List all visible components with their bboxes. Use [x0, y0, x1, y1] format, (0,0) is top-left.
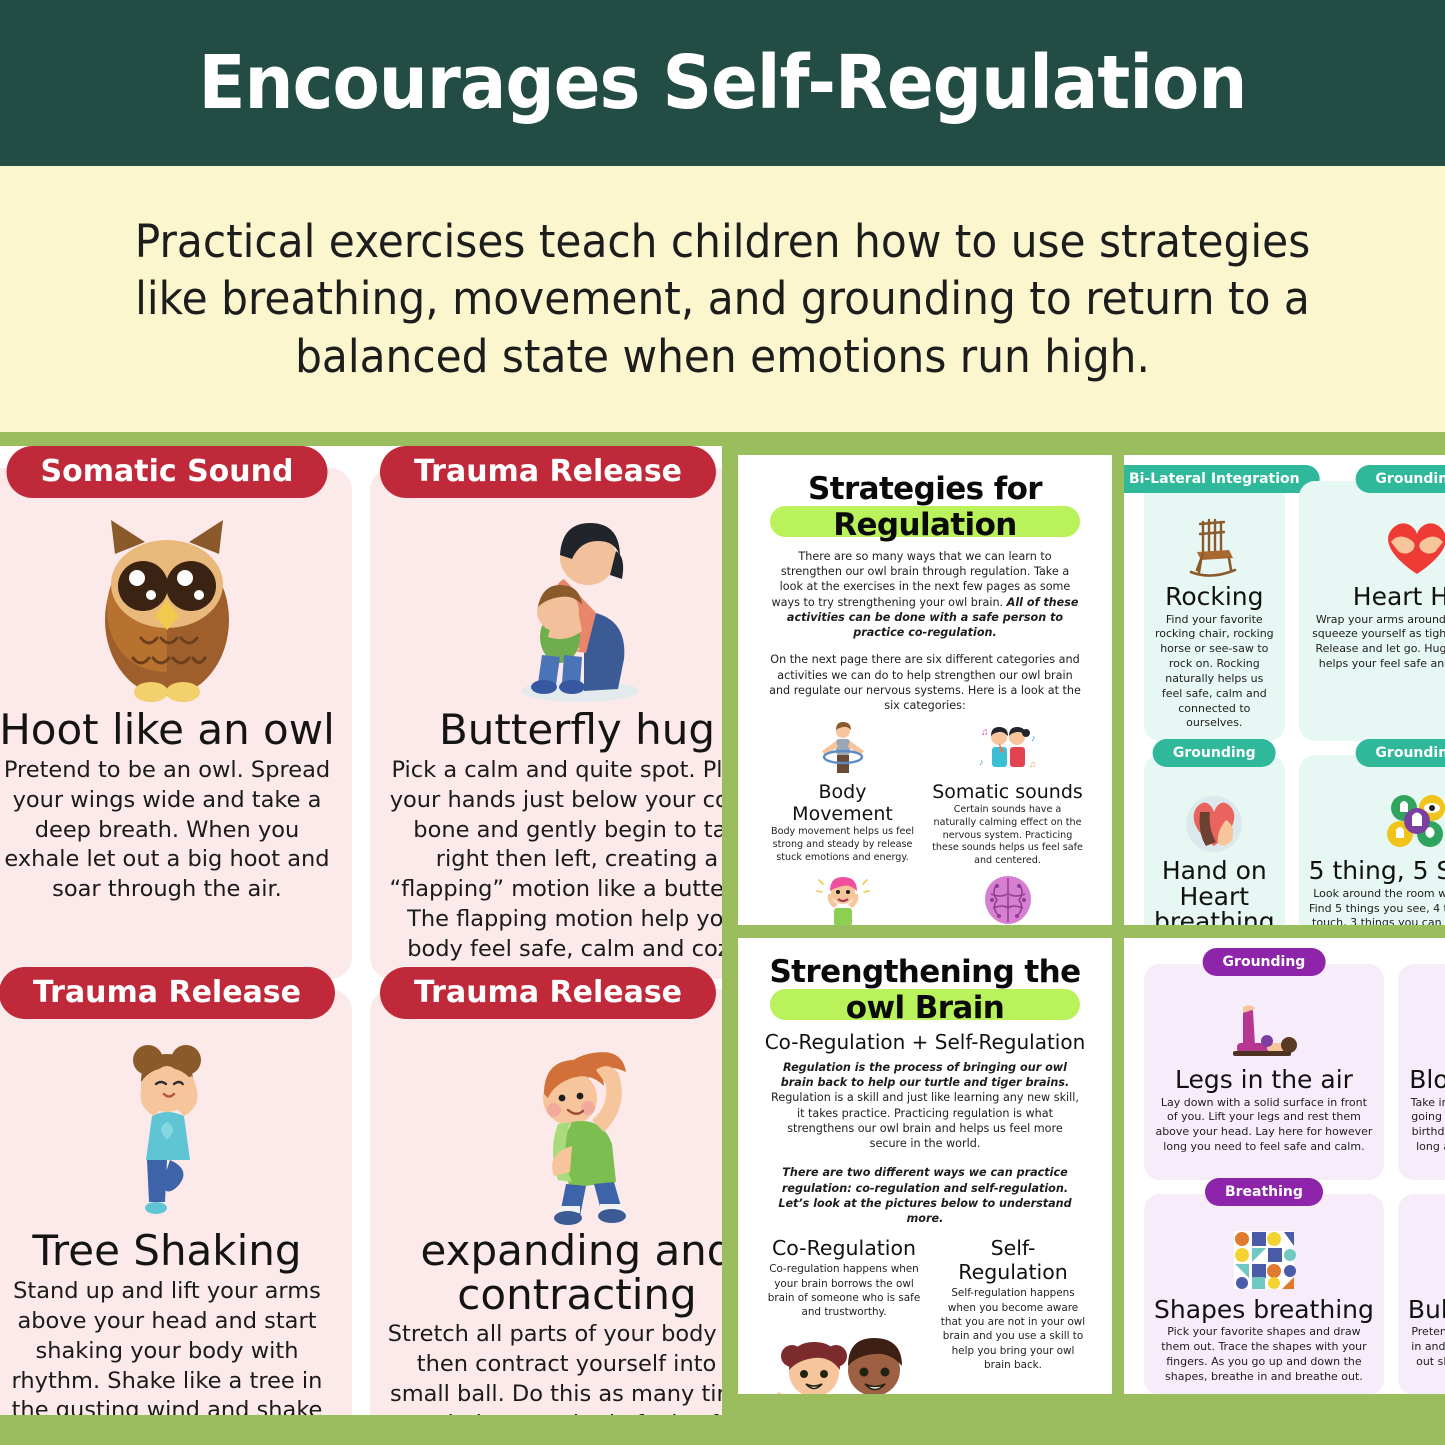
- subtitle-band: Practical exercises teach children how t…: [0, 166, 1445, 432]
- poster-root: Encourages Self-Regulation Practical exe…: [0, 0, 1445, 1445]
- column-desc: Self-regulation happens when you become …: [938, 1286, 1088, 1372]
- category-bi-lateral-integration: Bi-Lateral Integration Bi-lateral integr…: [929, 868, 1086, 925]
- status-badge: Grounding: [1153, 739, 1276, 767]
- card-title: Hoot like an owl: [0, 708, 335, 752]
- doc-content: Strategies for Regulation There are so m…: [738, 455, 1112, 925]
- doc-paragraph-1-plain: Regulation is a skill and just like lear…: [771, 1091, 1079, 1150]
- doc-title-wrap: Strengthening the owl Brain: [764, 954, 1086, 1026]
- colored-shapes-icon: [1232, 1226, 1296, 1294]
- status-badge: Grounding: [1355, 465, 1445, 493]
- card-body: Take in a big, deep breath like you are …: [1408, 1096, 1445, 1170]
- doc-paragraph-1-bold: Regulation is the process of bringing ou…: [781, 1061, 1069, 1089]
- card-title: Bubble breathing: [1408, 1297, 1445, 1323]
- doc-content: Strengthening the owl Brain Co-Regulatio…: [738, 938, 1112, 1394]
- mini-card-bubble-breathing[interactable]: Breathing Bubble breathing Pretend to bl…: [1398, 1194, 1445, 1394]
- card-body: Wrap your arms around yourself and squee…: [1309, 613, 1445, 672]
- regulation-columns: Co-Regulation Co-regulation happens when…: [764, 1236, 1086, 1394]
- column-desc: Co-regulation happens when your brain bo…: [764, 1262, 924, 1319]
- category-name: Body Movement: [766, 781, 919, 825]
- svg-text:♪: ♪: [1031, 733, 1036, 743]
- card-body: Pretend to be an owl. Spread your wings …: [0, 756, 340, 906]
- card-body: Find your favorite rocking chair, rockin…: [1154, 613, 1275, 732]
- card-body: Stretch all parts of your body and then …: [382, 1320, 722, 1415]
- doc-subtitle: Co-Regulation + Self-Regulation: [764, 1030, 1086, 1054]
- legs-up-wall-icon: [1227, 996, 1301, 1064]
- column-co-regulation: Co-Regulation Co-regulation happens when…: [764, 1236, 924, 1394]
- activity-card-hoot-like-an-owl[interactable]: Somatic Sound: [0, 468, 352, 979]
- rocking-chair-icon: [1183, 513, 1245, 581]
- subtitle-text: Practical exercises teach children how t…: [100, 213, 1346, 386]
- card-title: Butterfly hug: [439, 708, 715, 752]
- card-body: Lay down with a solid surface in front o…: [1154, 1096, 1374, 1155]
- page-title: Encourages Self-Regulation: [199, 46, 1247, 120]
- doc-title: Strategies for Regulation: [808, 471, 1042, 543]
- mini-card-5-things-5-senses[interactable]: Grounding 5 thing, 5 S: [1299, 755, 1445, 925]
- girl-making-heart-hands-icon: [938, 1387, 1088, 1395]
- doc-paragraph-1: Regulation is the process of bringing ou…: [764, 1060, 1086, 1151]
- doc-paragraph-1: There are so many ways that we can learn…: [764, 549, 1086, 640]
- column-heading: Self-Regulation: [938, 1236, 1088, 1284]
- status-badge: Grounding: [1355, 739, 1445, 767]
- purple-card-grid: Grounding Legs in the air Lay down with …: [1124, 938, 1445, 1394]
- category-name: Somatic sounds: [931, 781, 1084, 803]
- status-badge: Bi-Lateral Integration: [1124, 465, 1320, 493]
- status-badge: Breathing: [1205, 1178, 1323, 1206]
- mini-card-shapes-breathing[interactable]: Breathing: [1144, 1194, 1384, 1394]
- two-children-holding-hands-icon: [764, 1326, 924, 1394]
- status-badge: Trauma Release: [380, 967, 716, 1019]
- category-trauma-release: Trauma Release Trauma release practices …: [764, 868, 921, 925]
- right-preview-panel-bottom: Grounding Legs in the air Lay down with …: [1124, 938, 1445, 1394]
- card-title: Hand on Heart breathing: [1154, 858, 1275, 925]
- document-page-strategies-for-regulation[interactable]: Strategies for Regulation There are so m…: [738, 455, 1112, 925]
- left-card-grid: Somatic Sound: [0, 446, 722, 1415]
- brain-icon: [931, 868, 1084, 925]
- status-badge: Grounding: [1203, 948, 1326, 976]
- doc-paragraph-2: There are two different ways we can prac…: [764, 1165, 1086, 1226]
- document-page-strengthening-the-owl-brain[interactable]: Strengthening the owl Brain Co-Regulatio…: [738, 938, 1112, 1394]
- card-title: expanding and contracting: [382, 1229, 722, 1316]
- doc-title-wrap: Strategies for Regulation: [764, 471, 1086, 543]
- svg-text:♫: ♫: [1029, 759, 1036, 769]
- category-body-movement: Body Movement Body movement helps us fee…: [764, 717, 921, 867]
- teal-card-grid: Bi-Lateral Integration Rock: [1124, 455, 1445, 925]
- right-preview-panel-top: Bi-Lateral Integration Rock: [1124, 455, 1445, 925]
- hand-on-heart-icon: [1180, 787, 1248, 855]
- mini-card-hand-on-heart-breathing[interactable]: Grounding Hand on Heart breathing Sit or…: [1144, 755, 1285, 925]
- card-title: Heart Hug: [1353, 584, 1445, 610]
- card-body: Stand up and lift your arms above your h…: [0, 1277, 340, 1415]
- card-body: Pick a calm and quite spot. Place your h…: [382, 756, 722, 965]
- left-preview-panel: Somatic Sound: [0, 446, 722, 1415]
- child-shaking-icon: [766, 868, 919, 925]
- mini-card-heart-hug[interactable]: Grounding Heart Hug Wrap your arms aroun…: [1299, 481, 1445, 741]
- mini-card-rocking[interactable]: Bi-Lateral Integration Rock: [1144, 481, 1285, 741]
- mini-card-legs-in-the-air[interactable]: Grounding Legs in the air Lay down with …: [1144, 964, 1384, 1180]
- svg-text:♪: ♪: [979, 757, 984, 767]
- card-title: Blow out candles: [1409, 1067, 1445, 1093]
- activity-card-expanding-and-contracting[interactable]: Trauma Release: [370, 989, 722, 1415]
- header-band: Encourages Self-Regulation: [0, 0, 1445, 166]
- card-title: Rocking: [1165, 584, 1263, 610]
- activity-card-tree-shaking[interactable]: Trauma Release: [0, 989, 352, 1415]
- card-body: Pick your favorite shapes and draw them …: [1154, 1325, 1374, 1384]
- card-title: Legs in the air: [1175, 1067, 1353, 1093]
- category-desc: Certain sounds have a naturally calming …: [931, 804, 1084, 867]
- mini-card-blow-out-candles[interactable]: Breathing: [1398, 964, 1445, 1180]
- card-title: Tree Shaking: [32, 1229, 301, 1273]
- child-hula-hoop-icon: [766, 717, 919, 779]
- svg-text:♫: ♫: [981, 727, 989, 738]
- status-badge: Trauma Release: [380, 446, 716, 498]
- status-badge: Trauma Release: [0, 967, 335, 1019]
- column-self-regulation: Self-Regulation Self-regulation happens …: [938, 1236, 1088, 1394]
- card-title: Shapes breathing: [1154, 1297, 1374, 1323]
- category-desc: Body movement helps us feel strong and s…: [766, 826, 919, 864]
- five-senses-icon: [1382, 787, 1445, 855]
- category-somatic-sounds: ♫ ♪ ♪ ♫: [929, 717, 1086, 867]
- activity-card-butterfly-hug[interactable]: Trauma Release: [370, 468, 722, 979]
- boy-stretching-icon: [492, 1033, 662, 1229]
- heart-with-arms-icon: [1381, 513, 1445, 581]
- status-badge: Somatic Sound: [7, 446, 328, 498]
- mother-hugging-child-icon: [492, 512, 662, 708]
- girl-tree-pose-icon: [92, 1033, 242, 1229]
- doc-paragraph-2: On the next page there are six different…: [764, 652, 1086, 713]
- card-body: Pretend to blow a big bubble. Breathe in…: [1408, 1325, 1445, 1384]
- category-grid: Body Movement Body movement helps us fee…: [764, 717, 1086, 925]
- children-singing-icon: ♫ ♪ ♪ ♫: [931, 717, 1084, 779]
- owl-icon: [67, 512, 267, 708]
- card-title: 5 thing, 5 Senses: [1309, 858, 1445, 884]
- card-body: Look around the room where you are. Find…: [1309, 887, 1445, 925]
- column-heading: Co-Regulation: [764, 1236, 924, 1260]
